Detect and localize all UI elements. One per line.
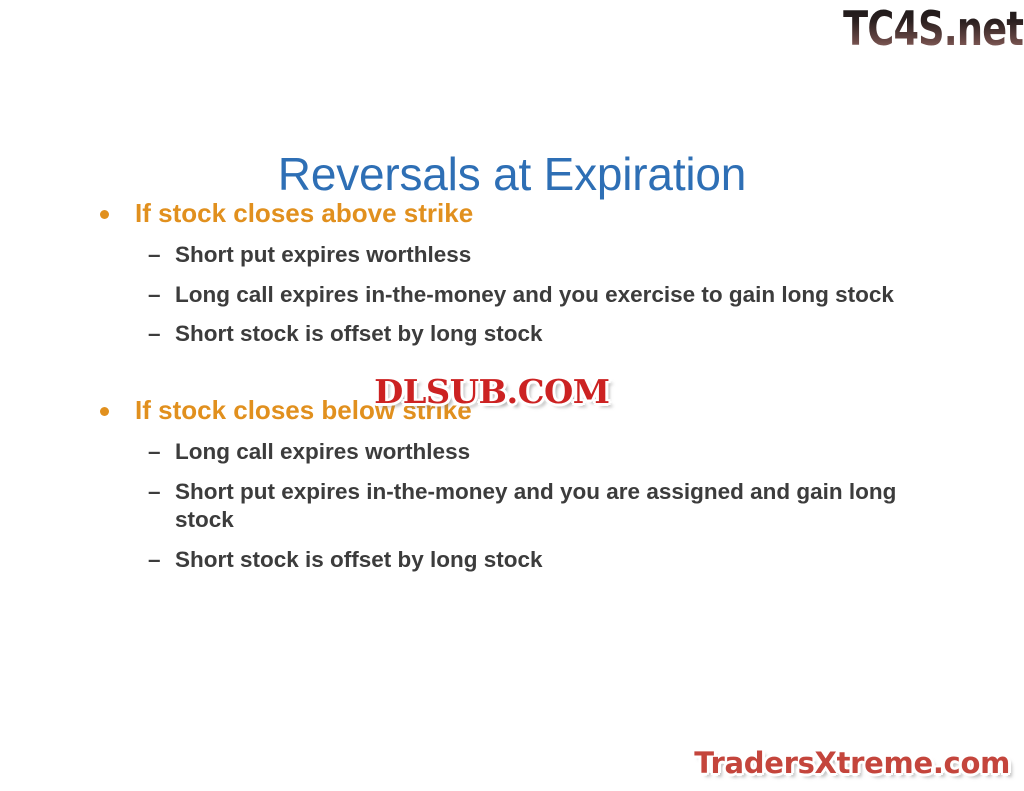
- bullet-level1-label: If stock closes above strike: [135, 198, 473, 228]
- dash-marker-icon: –: [148, 241, 161, 270]
- bullet-dot-icon: [100, 198, 120, 230]
- page-title: Reversals at Expiration: [0, 149, 1024, 200]
- bullet-level2-short-stock-offset: – Short stock is offset by long stock: [0, 320, 1024, 349]
- bullet-dot-icon: [100, 395, 120, 427]
- presentation-slide: Reversals at Expiration If stock closes …: [0, 0, 1024, 791]
- bullet-level2-label: Long call expires in-the-money and you e…: [175, 281, 919, 310]
- watermark-tradersxtreme: TradersXtreme.com: [690, 745, 1014, 782]
- dash-marker-icon: –: [148, 281, 161, 310]
- bullet-level2-label: Short put expires worthless: [175, 241, 919, 270]
- bullet-level2-label: Short stock is offset by long stock: [175, 546, 919, 575]
- bullet-level2-long-call-itm: – Long call expires in-the-money and you…: [0, 281, 1024, 310]
- dash-marker-icon: –: [148, 438, 161, 467]
- bullet-level2-short-put-itm: – Short put expires in-the-money and you…: [0, 478, 1024, 536]
- bullet-level1-above-strike: If stock closes above strike: [0, 198, 1024, 230]
- watermark-dlsub: DLSUB.COM: [370, 371, 614, 412]
- bullet-level2-short-put-worthless: – Short put expires worthless: [0, 241, 1024, 270]
- dash-marker-icon: –: [148, 546, 161, 575]
- bullet-level2-long-call-worthless: – Long call expires worthless: [0, 438, 1024, 467]
- dash-marker-icon: –: [148, 320, 161, 349]
- bullet-level2-label: Short put expires in-the-money and you a…: [175, 478, 919, 536]
- dash-marker-icon: –: [148, 478, 161, 507]
- watermark-tc4s: TC4S.net: [839, 0, 1024, 59]
- bullet-level2-label: Long call expires worthless: [175, 438, 919, 467]
- bullet-group-below-strike: If stock closes below strike – Long call…: [0, 395, 1024, 575]
- bullet-level2-label: Short stock is offset by long stock: [175, 320, 919, 349]
- bullet-group-above-strike: If stock closes above strike – Short put…: [0, 198, 1024, 349]
- bullet-level2-short-stock-offset-2: – Short stock is offset by long stock: [0, 546, 1024, 575]
